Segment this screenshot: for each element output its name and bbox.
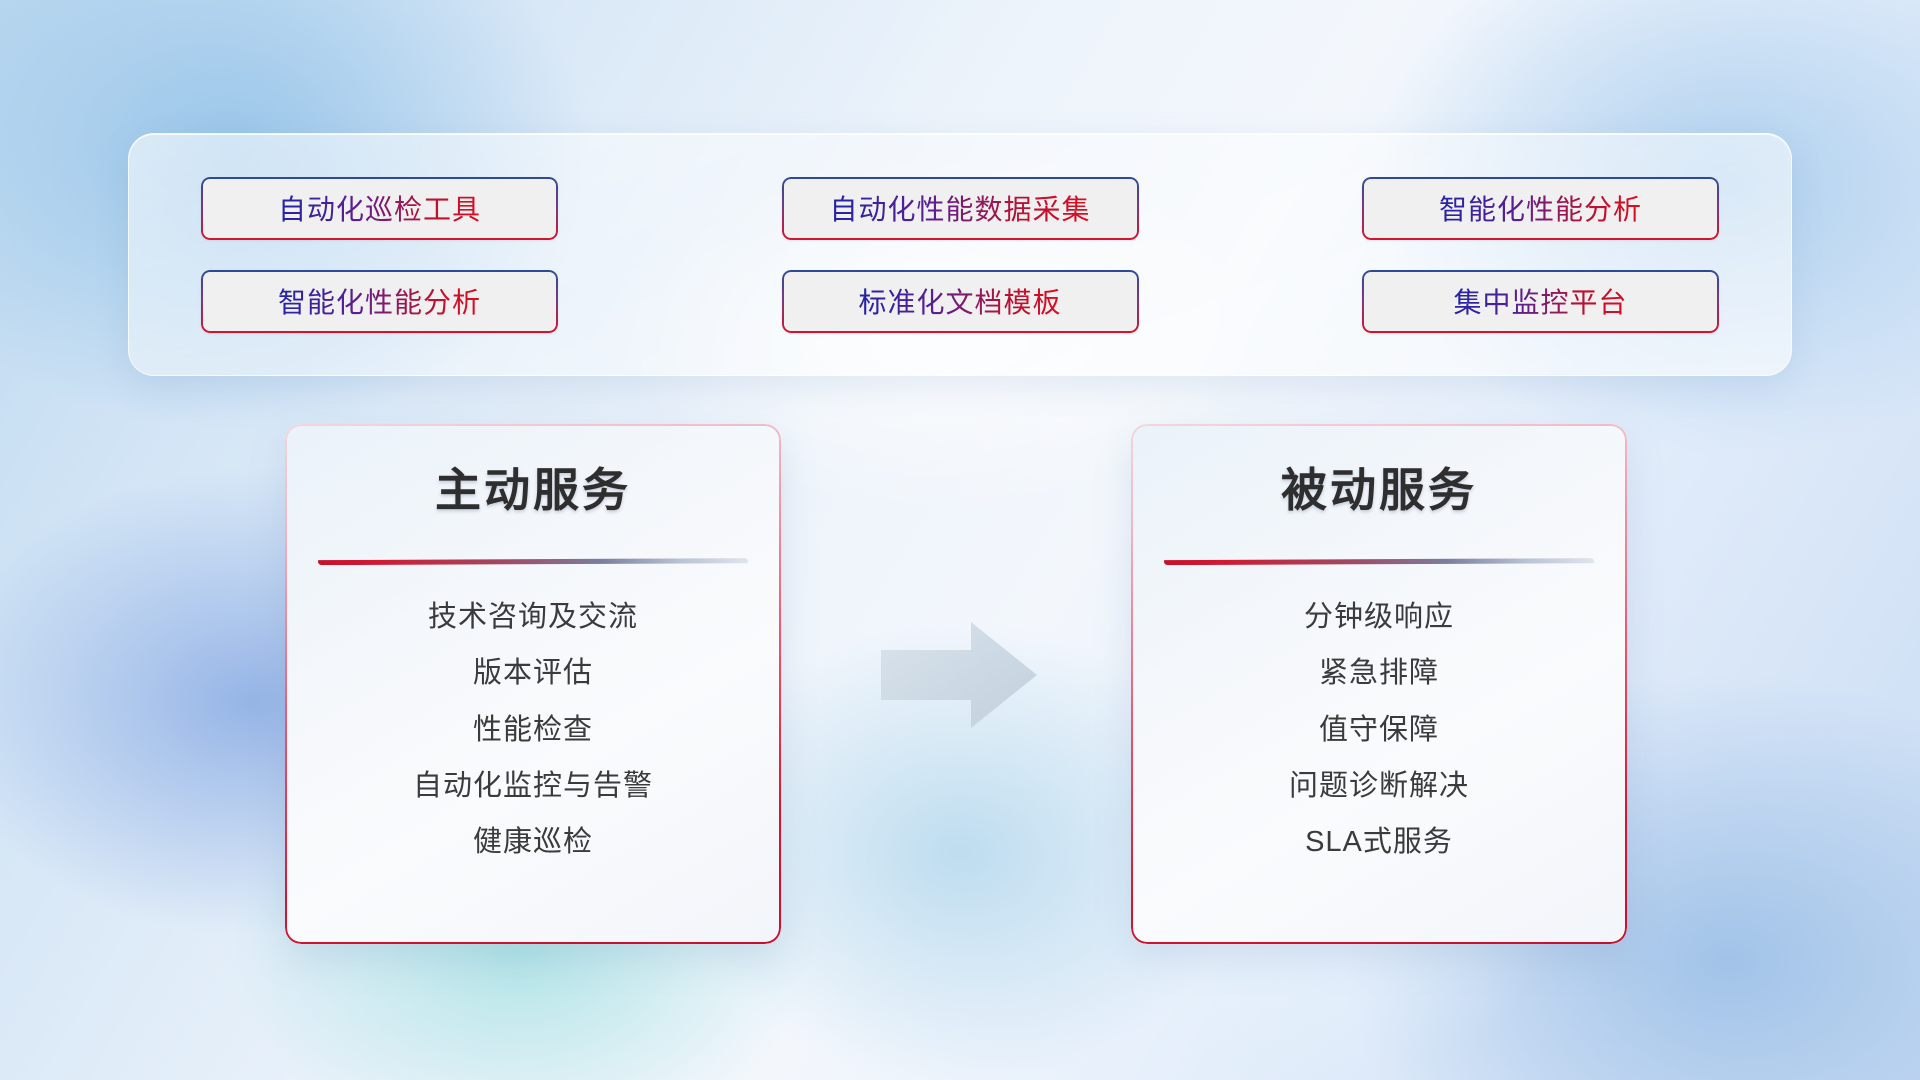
capability-tags-row-2: 智能化性能分析 标准化文档模板 集中监控平台 [201, 270, 1719, 333]
service-card-item: 自动化监控与告警 [413, 768, 653, 804]
service-card-item: 技术咨询及交流 [428, 599, 638, 635]
service-card-divider [318, 558, 748, 565]
service-card-item: SLA式服务 [1305, 824, 1453, 860]
service-card-item: 性能检查 [473, 712, 593, 748]
capability-tag[interactable]: 智能化性能分析 [201, 270, 558, 333]
capability-tag-label: 自动化巡检工具 [278, 188, 481, 228]
capability-tags-row-1: 自动化巡检工具 自动化性能数据采集 智能化性能分析 [201, 177, 1719, 240]
capability-tag[interactable]: 标准化文档模板 [782, 270, 1139, 333]
capability-tag-label: 集中监控平台 [1453, 281, 1627, 321]
service-card-item-list: 技术咨询及交流 版本评估 性能检查 自动化监控与告警 健康巡检 [285, 599, 781, 860]
capability-tag-label: 标准化文档模板 [858, 281, 1061, 321]
capability-tag-label: 自动化性能数据采集 [829, 188, 1090, 228]
service-card-item: 问题诊断解决 [1289, 768, 1469, 804]
flow-arrow-right-icon [879, 620, 1039, 730]
capability-tag-label: 智能化性能分析 [278, 281, 481, 321]
service-card-item: 紧急排障 [1319, 655, 1439, 691]
service-card-item: 值守保障 [1319, 712, 1439, 748]
service-card-item: 版本评估 [473, 655, 593, 691]
service-card-title: 主动服务 [285, 454, 781, 520]
capability-tag-label: 智能化性能分析 [1439, 188, 1642, 228]
service-card-reactive[interactable]: 被动服务 分钟级响应 紧急排障 值守保障 问题诊断解决 SLA式服务 [1131, 424, 1627, 944]
service-card-title: 被动服务 [1131, 454, 1627, 520]
service-card-item-list: 分钟级响应 紧急排障 值守保障 问题诊断解决 SLA式服务 [1131, 599, 1627, 860]
capability-tag[interactable]: 集中监控平台 [1362, 270, 1719, 333]
capability-tags-panel: 自动化巡检工具 自动化性能数据采集 智能化性能分析 智能化性能分析 标准化文档模… [128, 133, 1792, 376]
capability-tag[interactable]: 自动化巡检工具 [201, 177, 558, 240]
slide-stage: 自动化巡检工具 自动化性能数据采集 智能化性能分析 智能化性能分析 标准化文档模… [0, 0, 1920, 1080]
service-card-proactive[interactable]: 主动服务 技术咨询及交流 版本评估 性能检查 自动化监控与告警 健康巡检 [285, 424, 781, 944]
capability-tag[interactable]: 自动化性能数据采集 [782, 177, 1139, 240]
service-card-divider [1164, 558, 1594, 565]
service-card-item: 分钟级响应 [1304, 599, 1454, 635]
service-card-item: 健康巡检 [473, 824, 593, 860]
capability-tag[interactable]: 智能化性能分析 [1362, 177, 1719, 240]
